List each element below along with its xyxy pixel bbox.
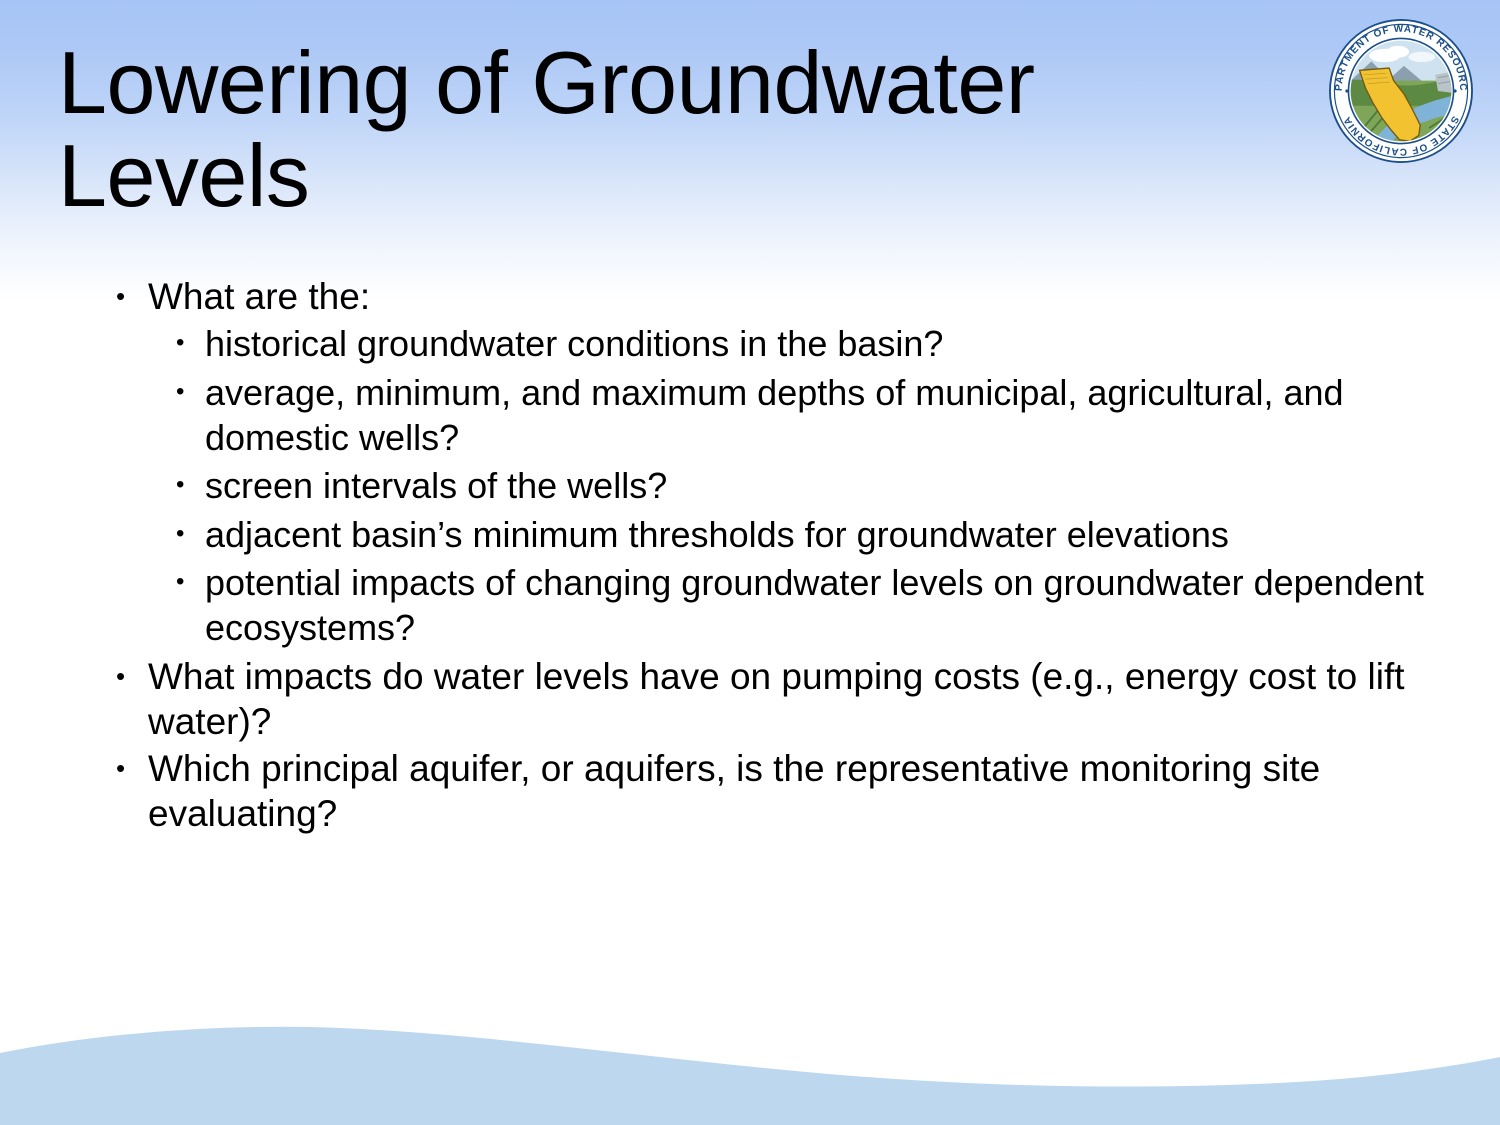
bottom-wave-decoration: [0, 985, 1500, 1125]
bullet-item-level1: •What impacts do water levels have on pu…: [100, 654, 1470, 744]
bullet-item-level2: •historical groundwater conditions in th…: [100, 321, 1470, 366]
bullet-item-level1: •What are the:: [100, 274, 1470, 319]
bullet-item-level2: •potential impacts of changing groundwat…: [100, 560, 1470, 651]
bullet-marker-icon: •: [176, 370, 205, 415]
bullet-text: historical groundwater conditions in the…: [205, 321, 1470, 366]
bullet-text: What impacts do water levels have on pum…: [148, 654, 1470, 744]
slide-canvas: Lowering of Groundwater Levels: [0, 0, 1500, 1125]
bullet-marker-icon: •: [116, 746, 148, 791]
dwr-seal-logo: DEPARTMENT OF WATER RESOURCES STATE OF C…: [1327, 17, 1475, 165]
page-title: Lowering of Groundwater Levels: [58, 36, 1138, 223]
bullet-text: Which principal aquifer, or aquifers, is…: [148, 746, 1470, 836]
bullet-item-level2: •screen intervals of the wells?: [100, 463, 1470, 508]
bullet-marker-icon: •: [176, 321, 205, 366]
seal-dot-left: [1345, 89, 1348, 92]
bullet-marker-icon: •: [176, 512, 205, 557]
bullet-marker-icon: •: [176, 463, 205, 508]
title-block: Lowering of Groundwater Levels: [58, 36, 1138, 223]
bullet-marker-icon: •: [116, 274, 148, 319]
seal-cloud-mid: [1387, 46, 1409, 58]
body-content: •What are the:•historical groundwater co…: [100, 274, 1470, 838]
bullet-text: adjacent basin’s minimum thresholds for …: [205, 512, 1470, 557]
bullet-item-level2: •average, minimum, and maximum depths of…: [100, 370, 1470, 461]
bullet-text: What are the:: [148, 274, 1470, 319]
bullet-marker-icon: •: [176, 560, 205, 605]
bullet-item-level1: •Which principal aquifer, or aquifers, i…: [100, 746, 1470, 836]
bullet-text: potential impacts of changing groundwate…: [205, 560, 1470, 651]
bullet-text: screen intervals of the wells?: [205, 463, 1470, 508]
seal-cloud-right: [1408, 52, 1435, 62]
bullet-item-level2: •adjacent basin’s minimum thresholds for…: [100, 512, 1470, 557]
seal-dot-right: [1453, 89, 1456, 92]
bullet-text: average, minimum, and maximum depths of …: [205, 370, 1470, 461]
wave-shape: [0, 1027, 1500, 1125]
bullet-marker-icon: •: [116, 654, 148, 699]
